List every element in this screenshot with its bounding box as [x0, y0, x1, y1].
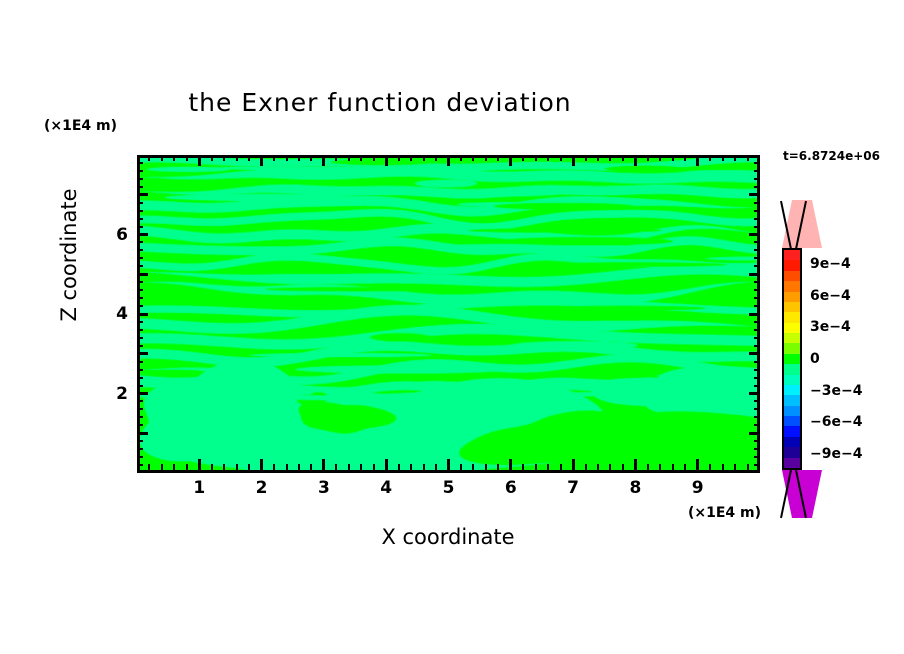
y-minor-tick-right	[754, 265, 760, 267]
x-major-tick	[260, 459, 263, 470]
x-minor-tick	[335, 464, 337, 470]
y-minor-tick-right	[754, 297, 760, 299]
x-minor-tick-top	[423, 155, 425, 161]
x-major-tick	[572, 459, 575, 470]
x-axis-label: X coordinate	[248, 525, 648, 549]
x-minor-tick-top	[472, 155, 474, 161]
colorbar-tick-label: 6e−4	[810, 288, 851, 304]
y-minor-tick-right	[754, 178, 760, 180]
x-major-tick	[447, 459, 450, 470]
y-minor-tick-right	[754, 202, 760, 204]
y-minor-tick-right	[754, 400, 760, 402]
x-minor-tick-top	[211, 155, 213, 161]
x-minor-tick	[547, 464, 549, 470]
y-minor-tick-right	[754, 289, 760, 291]
colorbar	[782, 248, 802, 470]
y-minor-tick-right	[754, 377, 760, 379]
contour-plot	[137, 155, 760, 473]
x-minor-tick-top	[286, 155, 288, 161]
y-major-tick	[137, 392, 148, 395]
x-minor-tick	[609, 464, 611, 470]
x-minor-tick	[672, 464, 674, 470]
x-minor-tick-top	[497, 155, 499, 161]
y-major-tick	[137, 233, 148, 236]
colorbar-segment	[784, 364, 800, 374]
x-minor-tick	[423, 464, 425, 470]
colorbar-segment	[784, 333, 800, 343]
x-major-tick-top	[634, 155, 637, 166]
y-minor-tick-right	[754, 369, 760, 371]
x-minor-tick-top	[535, 155, 537, 161]
colorbar-segment	[784, 271, 800, 281]
y-minor-tick-right	[754, 464, 760, 466]
x-minor-tick	[248, 464, 250, 470]
y-minor-tick-right	[754, 218, 760, 220]
y-minor-tick	[137, 408, 143, 410]
x-minor-tick-top	[223, 155, 225, 161]
x-tick-label: 7	[567, 478, 579, 498]
x-minor-tick	[472, 464, 474, 470]
x-major-tick-top	[696, 155, 699, 166]
x-minor-tick-top	[647, 155, 649, 161]
y-major-tick-right	[749, 193, 760, 196]
y-minor-tick	[137, 305, 143, 307]
y-minor-tick	[137, 178, 143, 180]
colorbar-segment	[784, 281, 800, 291]
x-major-tick	[509, 459, 512, 470]
colorbar-segment	[784, 375, 800, 385]
x-minor-tick-top	[684, 155, 686, 161]
x-minor-tick-top	[398, 155, 400, 161]
y-minor-tick-right	[754, 170, 760, 172]
x-minor-tick-top	[148, 155, 150, 161]
x-minor-tick	[398, 464, 400, 470]
x-minor-tick-top	[186, 155, 188, 161]
y-minor-tick-right	[754, 385, 760, 387]
y-major-tick	[137, 193, 148, 196]
x-minor-tick-top	[609, 155, 611, 161]
y-minor-tick	[137, 337, 143, 339]
y-minor-tick	[137, 440, 143, 442]
colorbar-segment	[784, 312, 800, 322]
y-minor-tick	[137, 345, 143, 347]
x-minor-tick-top	[173, 155, 175, 161]
x-minor-tick	[410, 464, 412, 470]
x-major-tick-top	[260, 155, 263, 166]
y-major-tick-right	[749, 432, 760, 435]
colorbar-segment	[784, 447, 800, 457]
x-minor-tick-top	[236, 155, 238, 161]
colorbar-segment	[784, 437, 800, 447]
colorbar-tick-label: −6e−4	[810, 414, 862, 430]
colorbar-segment	[784, 292, 800, 302]
x-minor-tick	[684, 464, 686, 470]
y-minor-tick-right	[754, 321, 760, 323]
y-minor-tick	[137, 385, 143, 387]
y-minor-tick-right	[754, 456, 760, 458]
y-minor-tick	[137, 321, 143, 323]
y-major-tick	[137, 432, 148, 435]
y-minor-tick	[137, 170, 143, 172]
colorbar-segment	[784, 395, 800, 405]
y-minor-tick-right	[754, 241, 760, 243]
x-minor-tick	[659, 464, 661, 470]
x-minor-tick-top	[659, 155, 661, 161]
x-minor-tick	[373, 464, 375, 470]
y-minor-tick-right	[754, 416, 760, 418]
y-minor-tick	[137, 361, 143, 363]
x-minor-tick-top	[273, 155, 275, 161]
x-major-tick	[634, 459, 637, 470]
colorbar-segment	[784, 260, 800, 270]
x-minor-tick-top	[585, 155, 587, 161]
x-tick-label: 3	[318, 478, 330, 498]
x-minor-tick-top	[597, 155, 599, 161]
x-minor-tick-top	[560, 155, 562, 161]
y-minor-tick-right	[754, 162, 760, 164]
colorbar-segment	[784, 385, 800, 395]
x-minor-tick	[722, 464, 724, 470]
y-tick-label: 4	[116, 304, 128, 324]
y-minor-tick	[137, 416, 143, 418]
x-tick-label: 6	[505, 478, 517, 498]
y-minor-tick	[137, 464, 143, 466]
y-tick-label: 2	[116, 384, 128, 404]
y-minor-tick-right	[754, 440, 760, 442]
x-minor-tick	[522, 464, 524, 470]
y-minor-tick	[137, 448, 143, 450]
x-minor-tick-top	[747, 155, 749, 161]
y-minor-tick	[137, 241, 143, 243]
timestamp-annotation: t=6.8724e+06	[783, 149, 880, 163]
x-minor-tick	[310, 464, 312, 470]
x-minor-tick	[535, 464, 537, 470]
x-minor-tick-top	[410, 155, 412, 161]
x-minor-tick-top	[622, 155, 624, 161]
x-minor-tick	[497, 464, 499, 470]
x-major-tick	[198, 459, 201, 470]
colorbar-segment	[784, 302, 800, 312]
x-minor-tick	[173, 464, 175, 470]
y-axis-label: Z coordinate	[57, 170, 81, 340]
colorbar-segment	[784, 416, 800, 426]
colorbar-tick-label: 9e−4	[810, 256, 851, 272]
x-major-tick	[696, 459, 699, 470]
y-minor-tick	[137, 186, 143, 188]
y-minor-tick-right	[754, 226, 760, 228]
x-minor-tick-top	[360, 155, 362, 161]
x-minor-tick	[298, 464, 300, 470]
x-minor-tick-top	[373, 155, 375, 161]
x-minor-tick-top	[485, 155, 487, 161]
x-tick-label: 8	[629, 478, 641, 498]
y-minor-tick	[137, 369, 143, 371]
x-minor-tick	[647, 464, 649, 470]
y-minor-tick	[137, 400, 143, 402]
x-minor-tick	[709, 464, 711, 470]
colorbar-tick-label: 3e−4	[810, 319, 851, 335]
y-minor-tick	[137, 249, 143, 251]
y-major-tick-right	[749, 233, 760, 236]
y-minor-tick	[137, 226, 143, 228]
x-major-tick	[322, 459, 325, 470]
y-major-tick	[137, 273, 148, 276]
x-minor-tick	[211, 464, 213, 470]
y-minor-tick-right	[754, 249, 760, 251]
y-minor-tick	[137, 377, 143, 379]
y-minor-tick-right	[754, 281, 760, 283]
y-minor-tick	[137, 329, 143, 331]
x-minor-tick-top	[522, 155, 524, 161]
x-tick-label: 2	[256, 478, 268, 498]
x-axis-unit: (×1E4 m)	[688, 505, 761, 521]
y-minor-tick	[137, 210, 143, 212]
x-minor-tick	[148, 464, 150, 470]
y-minor-tick-right	[754, 345, 760, 347]
y-minor-tick	[137, 297, 143, 299]
colorbar-segment	[784, 250, 800, 260]
y-minor-tick-right	[754, 210, 760, 212]
y-minor-tick	[137, 456, 143, 458]
y-minor-tick-right	[754, 361, 760, 363]
x-major-tick-top	[322, 155, 325, 166]
x-minor-tick-top	[161, 155, 163, 161]
x-minor-tick-top	[460, 155, 462, 161]
x-minor-tick-top	[248, 155, 250, 161]
x-minor-tick-top	[547, 155, 549, 161]
y-minor-tick	[137, 162, 143, 164]
x-major-tick-top	[572, 155, 575, 166]
colorbar-segment	[784, 323, 800, 333]
y-minor-tick-right	[754, 337, 760, 339]
x-minor-tick-top	[435, 155, 437, 161]
x-minor-tick	[273, 464, 275, 470]
x-minor-tick-top	[722, 155, 724, 161]
y-minor-tick-right	[754, 257, 760, 259]
y-major-tick-right	[749, 273, 760, 276]
y-minor-tick	[137, 202, 143, 204]
x-tick-label: 9	[692, 478, 704, 498]
x-minor-tick	[236, 464, 238, 470]
x-minor-tick-top	[709, 155, 711, 161]
y-tick-label: 6	[116, 225, 128, 245]
x-minor-tick	[485, 464, 487, 470]
x-minor-tick	[360, 464, 362, 470]
y-minor-tick-right	[754, 424, 760, 426]
x-minor-tick	[435, 464, 437, 470]
x-minor-tick	[161, 464, 163, 470]
x-major-tick-top	[509, 155, 512, 166]
x-minor-tick-top	[672, 155, 674, 161]
x-minor-tick	[223, 464, 225, 470]
colorbar-tick-label: −3e−4	[810, 383, 862, 399]
x-minor-tick-top	[734, 155, 736, 161]
y-major-tick-right	[749, 392, 760, 395]
colorbar-tick-label: 0	[810, 351, 820, 367]
x-tick-label: 5	[443, 478, 455, 498]
colorbar-segment	[784, 406, 800, 416]
y-minor-tick-right	[754, 305, 760, 307]
y-minor-tick-right	[754, 186, 760, 188]
colorbar-segment	[784, 343, 800, 353]
y-major-tick	[137, 313, 148, 316]
y-minor-tick	[137, 265, 143, 267]
y-minor-tick-right	[754, 329, 760, 331]
x-minor-tick-top	[335, 155, 337, 161]
contour-field	[140, 158, 757, 470]
x-minor-tick	[460, 464, 462, 470]
x-minor-tick-top	[348, 155, 350, 161]
x-minor-tick	[186, 464, 188, 470]
y-minor-tick	[137, 424, 143, 426]
colorbar-segment	[784, 426, 800, 436]
y-minor-tick	[137, 257, 143, 259]
y-major-tick-right	[749, 313, 760, 316]
x-major-tick-top	[198, 155, 201, 166]
x-major-tick	[385, 459, 388, 470]
colorbar-tick-label: −9e−4	[810, 446, 862, 462]
x-minor-tick	[747, 464, 749, 470]
colorbar-segment	[784, 354, 800, 364]
y-major-tick-right	[749, 352, 760, 355]
x-minor-tick	[286, 464, 288, 470]
y-major-tick	[137, 352, 148, 355]
x-minor-tick	[597, 464, 599, 470]
x-tick-label: 1	[193, 478, 205, 498]
x-minor-tick	[622, 464, 624, 470]
x-minor-tick	[560, 464, 562, 470]
x-major-tick-top	[447, 155, 450, 166]
y-minor-tick	[137, 218, 143, 220]
x-minor-tick-top	[298, 155, 300, 161]
y-minor-tick-right	[754, 448, 760, 450]
y-minor-tick-right	[754, 408, 760, 410]
x-major-tick-top	[385, 155, 388, 166]
y-tick-labels: 246	[104, 0, 128, 654]
x-minor-tick	[585, 464, 587, 470]
y-minor-tick	[137, 281, 143, 283]
x-minor-tick	[734, 464, 736, 470]
y-minor-tick	[137, 289, 143, 291]
colorbar-segment	[784, 458, 800, 468]
x-tick-label: 4	[380, 478, 392, 498]
x-minor-tick	[348, 464, 350, 470]
x-minor-tick-top	[310, 155, 312, 161]
